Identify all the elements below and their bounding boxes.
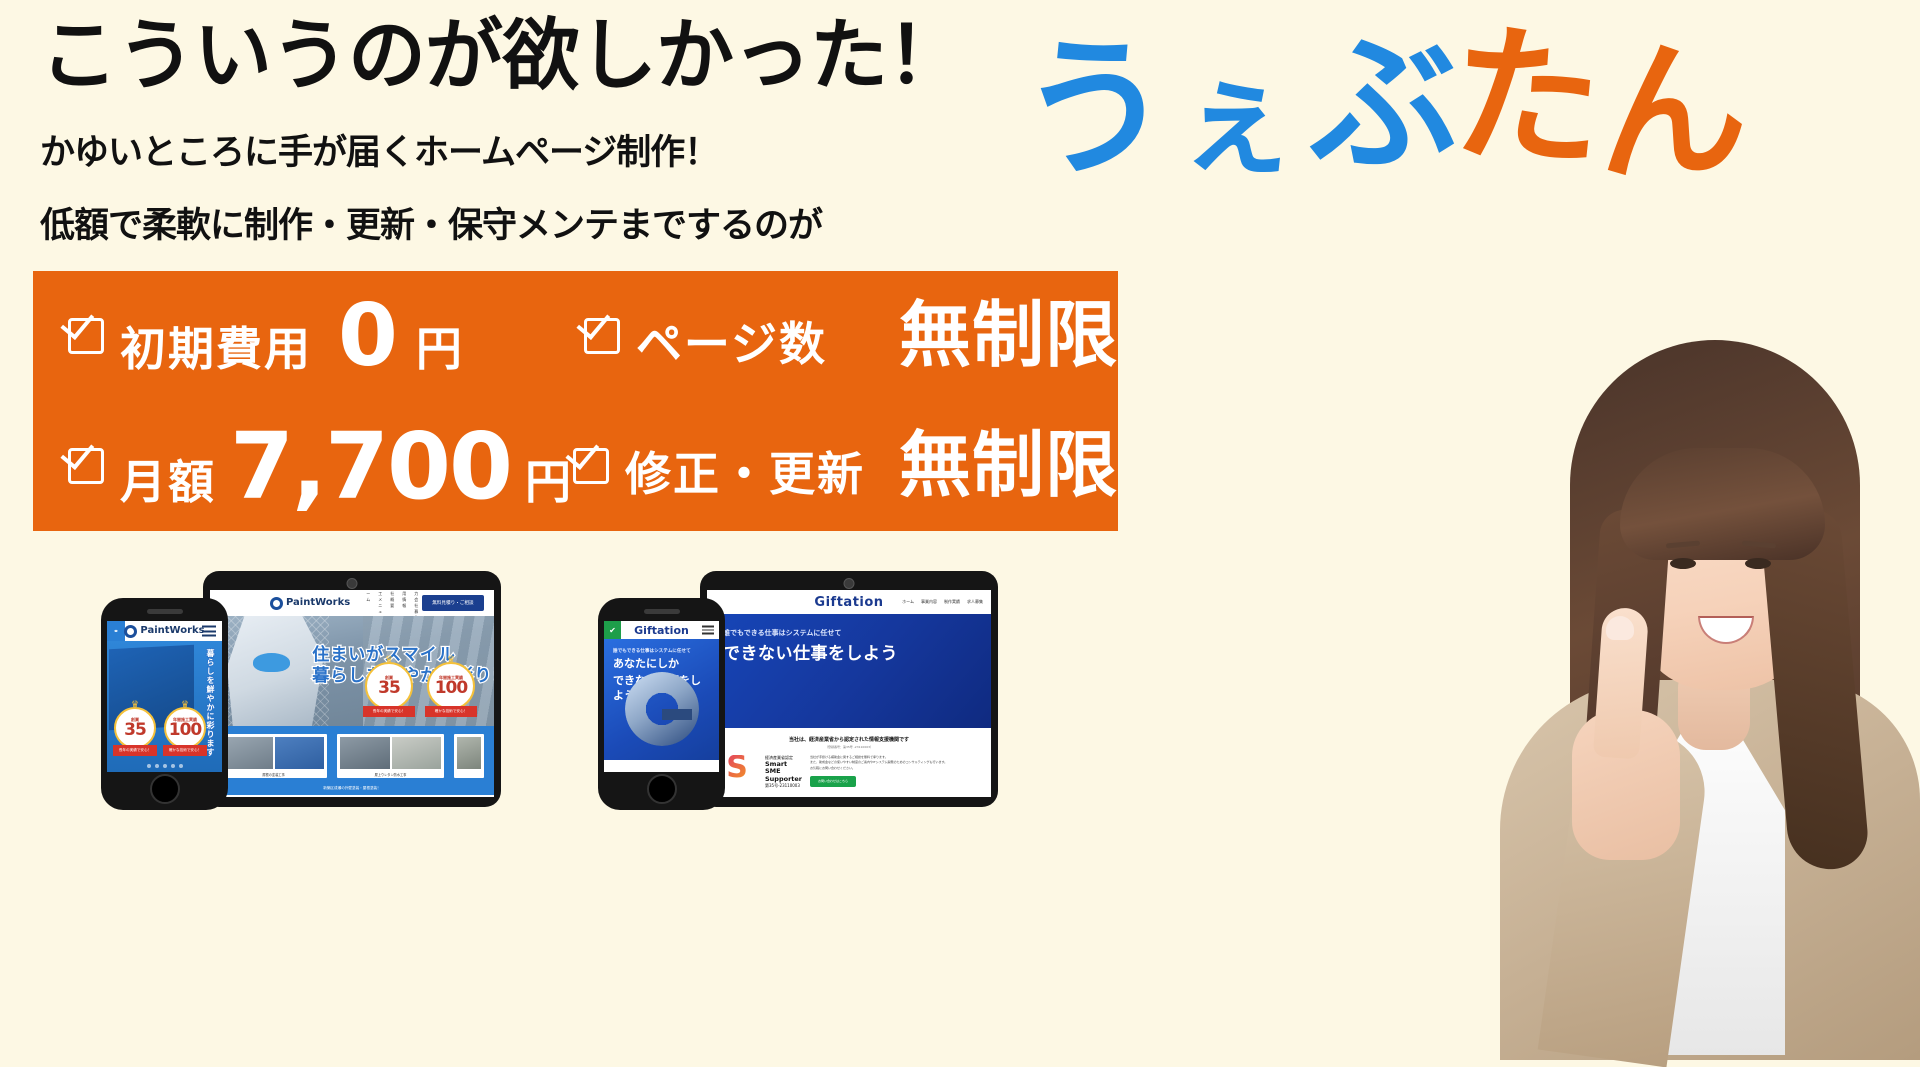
feature-initial-cost: 初期費用 0 円 (33, 286, 584, 386)
checkbox-checked-icon (68, 318, 104, 354)
paintworks-name: PaintWorks (286, 598, 350, 608)
checkbox-checked-icon (68, 448, 104, 484)
nav-link[interactable]: 事業内容 (921, 599, 937, 605)
badge-number: 100 (435, 680, 468, 697)
giftation-phone-navbar: ✔ Giftation (604, 621, 719, 639)
badge-ribbon: 確かな技術で安心！ (163, 745, 207, 756)
logo-char-3: ぶ (1304, 26, 1456, 183)
thumbnail-card[interactable] (454, 734, 484, 778)
feature-label: 初期費用 (120, 313, 312, 379)
badge-ribbon: 長年の実績で安心！ (113, 745, 157, 756)
badge-years: ♛ 創業 35 長年の実績で安心！ (363, 662, 415, 717)
crown-icon: ♛ (131, 701, 139, 710)
cert-number: 第35号-23110003 (765, 783, 800, 788)
badge-disc: 年間施工実績 100 (164, 707, 206, 749)
thumbnail-caption: 屋上ウレタン防水工事 (340, 772, 441, 777)
paintworks-phone-navbar: ☎ PaintWorks (107, 621, 222, 641)
logo-char-1: う (1015, 29, 1169, 189)
contact-button[interactable]: お問い合わせはこちら (810, 776, 856, 788)
feature-value: 0 (338, 286, 398, 386)
green-flag-icon: ✔ (604, 621, 621, 639)
giftation-phone-footer (604, 760, 719, 772)
crown-icon: ♛ (385, 656, 393, 665)
feature-label: ページ数 (636, 308, 827, 374)
badge-number: 100 (169, 722, 202, 739)
helmet-shape (253, 653, 290, 672)
paintworks-logo: PaintWorks (124, 625, 204, 638)
giftation-hero-big: できない仕事をしよう (723, 643, 975, 666)
thumbnail-caption: 屋根の塗装工事 (223, 772, 324, 777)
thumbnail-images (457, 737, 481, 769)
hero-banner: こういうのが欲しかった！ かゆいところに手が届くホームページ制作！ 低額で柔軟に… (0, 0, 1920, 1050)
paintworks-tablet-mockup: PaintWorks ホーム 施工メニュー 会社概要 採用情報 協力会社募集 無… (203, 571, 501, 807)
paintworks-logo: PaintWorks (270, 597, 350, 610)
thumb-image (392, 737, 442, 769)
hamburger-menu-icon[interactable] (202, 626, 216, 637)
thumbnail-card[interactable]: 屋上ウレタン防水工事 (337, 734, 444, 778)
paintworks-navbar: PaintWorks ホーム 施工メニュー 会社概要 採用情報 協力会社募集 無… (210, 590, 494, 616)
thumbnail-images (340, 737, 441, 769)
giftation-phone-hero: 誰でもできる仕事はシステムに任せて あなたにしか できない仕事をしよう (604, 639, 719, 760)
checkbox-checked-icon (584, 318, 620, 354)
cert-label: 経済産業省認定 (765, 755, 793, 760)
cert-body: S 経済産業省認定 Smart SME Supporter 第35号-23110… (717, 755, 981, 789)
logo-char-5: ん (1593, 34, 1745, 191)
checkbox-checked-icon (573, 448, 609, 484)
badge-ribbon: 長年の実績で安心！ (363, 706, 415, 717)
phone-home-button[interactable] (150, 774, 180, 804)
nav-link[interactable]: 求人募集 (967, 599, 983, 605)
headline-sub-1: かゆいところに手が届くホームページ制作！ (40, 124, 1060, 175)
paintworks-name: PaintWorks (140, 626, 204, 636)
giftation-hero: 誰でもできる仕事はシステムに任せて できない仕事をしよう (707, 614, 991, 728)
paintworks-mark-icon (270, 597, 283, 610)
phone-call-icon[interactable]: ☎ (107, 621, 125, 641)
thumb-image (457, 737, 481, 769)
paintworks-phone-screen: ☎ PaintWorks 暮らしを鮮やかに彩ります ♛ 創業 (107, 621, 222, 772)
thumb-image (223, 737, 273, 769)
phone-home-button[interactable] (647, 774, 677, 804)
badge-years: ♛ 創業 35 長年の実績で安心！ (113, 707, 157, 756)
device-mockups: PaintWorks ホーム 施工メニュー 会社概要 採用情報 協力会社募集 無… (0, 555, 1120, 855)
paintworks-tablet-screen: PaintWorks ホーム 施工メニュー 会社概要 採用情報 協力会社募集 無… (210, 590, 494, 797)
badge-projects: ♛ 年間施工実績 100 確かな技術で安心！ (425, 662, 477, 717)
cert-paragraph: お気軽にお問い合わせください。 (810, 766, 981, 772)
feature-label: 修正・更新 (625, 438, 865, 504)
feature-monthly-fee: 月額 7,700 円 (33, 413, 573, 520)
tablet-camera-icon (347, 578, 358, 589)
giftation-cert-section: 当社は、経済産業省から認定された情報支援機関です （登録番号：第35号 -231… (707, 728, 991, 797)
giftation-tablet-mockup: Giftation ホーム 事業内容 制作実績 求人募集 誰でもできる仕事はシス… (700, 571, 998, 807)
paintworks-phone-badges: ♛ 創業 35 長年の実績で安心！ ♛ 年間施工実績 100 (113, 707, 207, 756)
feature-value: 無制限 (899, 429, 1118, 501)
badge-number: 35 (378, 680, 400, 697)
giftation-hero-big-line-1: あなたにしか (613, 657, 710, 671)
badge-disc: 創業 35 (365, 662, 413, 710)
brand-logo: うぇぶたん (1020, 28, 1900, 218)
paintworks-badges: ♛ 創業 35 長年の実績で安心！ ♛ 年間施工実績 100 (363, 662, 477, 717)
phone-speaker-icon (644, 609, 680, 614)
paintworks-cta-button[interactable]: 無料見積り・ご相談 (422, 595, 483, 611)
logo-char-2: ぇ (1173, 56, 1297, 185)
giftation-phone-mockup: ✔ Giftation 誰でもできる仕事はシステムに任せて あなたにしか できな… (598, 598, 725, 810)
feature-revisions: 修正・更新 無制限 (573, 429, 1118, 504)
giftation-hero-small: 誰でもできる仕事はシステムに任せて (723, 628, 975, 638)
giftation-navbar: Giftation ホーム 事業内容 制作実績 求人募集 (707, 590, 991, 614)
feature-value: 無制限 (899, 299, 1118, 371)
pointing-woman-photo (1420, 210, 1920, 1050)
giftation-tablet-screen: Giftation ホーム 事業内容 制作実績 求人募集 誰でもできる仕事はシス… (707, 590, 991, 797)
thumbnail-images (223, 737, 324, 769)
cert-heading: 当社は、経済産業省から認定された情報支援機関です (717, 736, 981, 743)
headline-sub-2: 低額で柔軟に制作・更新・保守メンテまでするのが (40, 197, 1060, 248)
nav-link[interactable]: ホーム (902, 599, 914, 605)
crown-icon: ♛ (181, 701, 189, 710)
giftation-site-name: Giftation (634, 624, 689, 637)
hamburger-menu-icon[interactable] (702, 626, 714, 635)
thumb-image (340, 737, 390, 769)
giftation-hero-big-line: できない仕事をしよう (723, 644, 898, 664)
eye-left (1670, 558, 1696, 569)
hair-fringe (1620, 448, 1825, 560)
pricing-row-1: 初期費用 0 円 ページ数 無制限 (33, 271, 1118, 401)
feature-unit: 円 (525, 446, 571, 512)
thumb-image (275, 737, 325, 769)
paintworks-thumbnails: 屋根の塗装工事 屋上ウレタン防水工事 (210, 726, 494, 786)
cert-line-3: Supporter (765, 776, 802, 783)
cert-text-block: 経済産業省認定 Smart SME Supporter 第35号-2311000… (765, 755, 802, 789)
cert-paragraphs: 当社が手掛ける補助金に関するご相談を無料で承ります。 また、助成金などの使いやす… (810, 755, 981, 788)
thumbnail-card[interactable]: 屋根の塗装工事 (220, 734, 327, 778)
tablet-camera-icon (844, 578, 855, 589)
feature-value: 7,700 (230, 413, 511, 520)
badge-disc: 年間施工実績 100 (427, 662, 475, 710)
paintworks-phone-mockup: ☎ PaintWorks 暮らしを鮮やかに彩ります ♛ 創業 (101, 598, 228, 810)
pricing-panel: 初期費用 0 円 ページ数 無制限 月額 7,700 円 修正・更新 無制限 (33, 271, 1118, 531)
paintworks-mark-icon (124, 625, 137, 638)
fingernail (1606, 616, 1634, 640)
logo-char-4: た (1447, 19, 1601, 179)
paintworks-hero: 住まいがスマイル 暮らしを鮮やかに彩ります ♛ 創業 35 長年の実績で安心！ (210, 616, 494, 726)
crown-icon: ♛ (447, 656, 455, 665)
badge-disc: 創業 35 (114, 707, 156, 749)
badge-number: 35 (124, 722, 146, 739)
pricing-row-2: 月額 7,700 円 修正・更新 無制限 (33, 401, 1118, 531)
page-title: こういうのが欲しかった！ (40, 16, 1060, 98)
feature-label: 月額 (120, 446, 216, 512)
paintworks-footer: 新築区成瀬の外壁塗装・屋根塗装！ (210, 786, 494, 795)
paintworks-phone-hero: 暮らしを鮮やかに彩ります ♛ 創業 35 長年の実績で安心！ ♛ (107, 641, 222, 772)
feature-page-count: ページ数 無制限 (584, 299, 1118, 374)
carousel-dots[interactable] (147, 764, 183, 768)
badge-projects: ♛ 年間施工実績 100 確かな技術で安心！ (163, 707, 207, 756)
giftation-phone-screen: ✔ Giftation 誰でもできる仕事はシステムに任せて あなたにしか できな… (604, 621, 719, 772)
feature-unit: 円 (416, 313, 462, 379)
giftation-site-name: Giftation (814, 595, 883, 610)
giftation-nav-links: ホーム 事業内容 制作実績 求人募集 (902, 599, 983, 605)
eye-right (1745, 558, 1771, 569)
headline-block: こういうのが欲しかった！ かゆいところに手が届くホームページ制作！ 低額で柔軟に… (40, 16, 1060, 248)
badge-ribbon: 確かな技術で安心！ (425, 706, 477, 717)
phone-speaker-icon (147, 609, 183, 614)
nav-link[interactable]: 制作実績 (944, 599, 960, 605)
giftation-g-bar (662, 709, 692, 720)
cert-subheading: （登録番号：第35号 -23110003） (717, 745, 981, 749)
giftation-hero-small: 誰でもできる仕事はシステムに任せて (613, 648, 710, 654)
